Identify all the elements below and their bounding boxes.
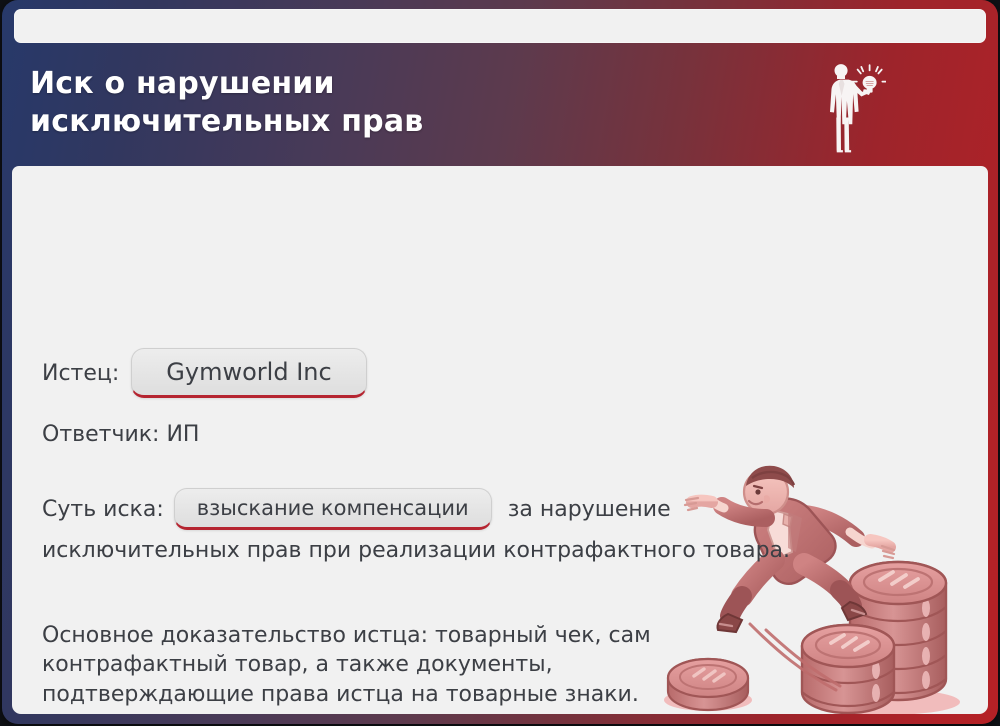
coin-stack-tall [850, 562, 946, 700]
plaintiff-row: Истец: Gymworld Inc [42, 348, 367, 398]
claim-body-text: исключительных прав при реализации контр… [42, 536, 832, 565]
header-band: Иск о нарушении исключительных прав [2, 45, 998, 166]
defendant-row: Ответчик: ИП [42, 422, 199, 447]
infographic-card: Иск о нарушении исключительных прав [2, 0, 998, 724]
page-title: Иск о нарушении исключительных прав [30, 65, 670, 141]
plaintiff-label: Истец: [42, 361, 119, 386]
person-with-lightbulb-icon [812, 51, 886, 161]
top-blank-bar [14, 9, 986, 43]
businessman-jumping-over-coin-stacks-illustration [654, 456, 988, 714]
content-panel: Истец: Gymworld Inc Ответчик: ИП Суть ис… [12, 166, 988, 714]
defendant-text: Ответчик: ИП [42, 422, 199, 447]
claim-type-chip[interactable]: взыскание компенсации [174, 488, 492, 530]
plaintiff-value-chip[interactable]: Gymworld Inc [131, 348, 366, 398]
claim-suffix-text: за нарушение [508, 497, 671, 522]
evidence-text: Основное доказательство истца: товарный … [42, 621, 662, 709]
coin-single [668, 659, 748, 710]
claim-row: Суть иска: взыскание компенсации за нару… [42, 488, 671, 530]
claim-label: Суть иска: [42, 497, 164, 522]
coin-stack-medium [802, 625, 894, 713]
